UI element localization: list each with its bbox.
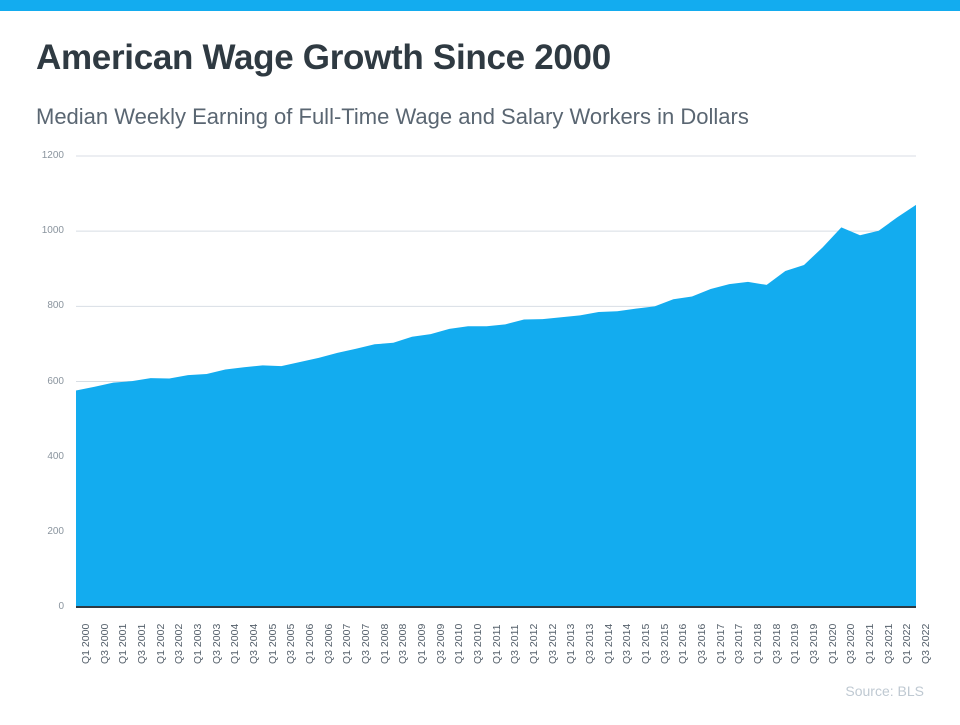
y-axis-tick-label: 400 — [6, 451, 64, 462]
x-axis-tick-label: Q1 2015 — [640, 624, 652, 664]
x-axis-tick-label: Q3 2006 — [323, 624, 335, 664]
x-axis-tick-label: Q3 2009 — [435, 624, 447, 664]
x-axis-tick-label: Q1 2010 — [453, 624, 465, 664]
x-axis-tick-label: Q3 2017 — [733, 624, 745, 664]
x-axis-tick-label: Q1 2005 — [267, 624, 279, 664]
x-axis-tick-label: Q3 2021 — [883, 624, 895, 664]
x-axis-tick-label: Q3 2002 — [173, 624, 185, 664]
x-axis-tick-label: Q3 2022 — [920, 624, 932, 664]
x-axis-tick-label: Q3 2004 — [248, 624, 260, 664]
x-axis-tick-label: Q3 2011 — [509, 624, 521, 664]
y-axis-tick-label: 0 — [6, 601, 64, 612]
x-axis-tick-label: Q3 2014 — [621, 624, 633, 664]
y-axis-tick-label: 600 — [6, 376, 64, 387]
x-axis-tick-label: Q1 2001 — [117, 624, 129, 664]
x-axis-tick-label: Q1 2017 — [715, 624, 727, 664]
x-axis-tick-label: Q1 2003 — [192, 624, 204, 664]
x-axis-tick-label: Q1 2006 — [304, 624, 316, 664]
y-axis-tick-label: 200 — [6, 526, 64, 537]
x-axis-tick-label: Q3 2020 — [845, 624, 857, 664]
x-axis-tick-label: Q1 2002 — [155, 624, 167, 664]
x-axis-tick-label: Q3 2005 — [285, 624, 297, 664]
x-axis-tick-label: Q1 2020 — [827, 624, 839, 664]
x-axis-tick-label: Q1 2014 — [603, 624, 615, 664]
x-axis-tick-label: Q1 2007 — [341, 624, 353, 664]
area-series — [76, 205, 916, 607]
x-axis-tick-label: Q1 2016 — [677, 624, 689, 664]
x-axis-tick-label: Q1 2009 — [416, 624, 428, 664]
x-axis-tick-label: Q1 2004 — [229, 624, 241, 664]
x-axis-tick-label: Q3 2010 — [472, 624, 484, 664]
x-axis-tick-label: Q1 2013 — [565, 624, 577, 664]
x-axis-tick-label: Q3 2000 — [99, 624, 111, 664]
y-axis-tick-label: 800 — [6, 300, 64, 311]
y-axis-tick-label: 1000 — [6, 225, 64, 236]
source-note: Source: BLS — [845, 683, 924, 699]
x-axis-tick-label: Q1 2008 — [379, 624, 391, 664]
chart-plot-area: 020040060080010001200Q1 2000Q3 2000Q1 20… — [0, 0, 960, 720]
y-axis-tick-label: 1200 — [6, 150, 64, 161]
x-axis-tick-label: Q3 2019 — [808, 624, 820, 664]
x-axis-tick-label: Q3 2013 — [584, 624, 596, 664]
x-axis-tick-label: Q1 2000 — [80, 624, 92, 664]
x-axis-tick-label: Q3 2015 — [659, 624, 671, 664]
x-axis-tick-label: Q1 2021 — [864, 624, 876, 664]
x-axis-tick-label: Q3 2008 — [397, 624, 409, 664]
x-axis-tick-label: Q1 2019 — [789, 624, 801, 664]
x-axis-tick-label: Q1 2012 — [528, 624, 540, 664]
x-axis-tick-label: Q1 2018 — [752, 624, 764, 664]
x-axis-tick-label: Q3 2003 — [211, 624, 223, 664]
x-axis-tick-label: Q3 2007 — [360, 624, 372, 664]
area-chart-svg — [0, 0, 960, 720]
x-axis-tick-label: Q1 2011 — [491, 624, 503, 664]
x-axis-tick-label: Q3 2018 — [771, 624, 783, 664]
x-axis-tick-label: Q3 2001 — [136, 624, 148, 664]
x-axis-tick-label: Q3 2012 — [547, 624, 559, 664]
x-axis-tick-label: Q1 2022 — [901, 624, 913, 664]
x-axis-tick-label: Q3 2016 — [696, 624, 708, 664]
